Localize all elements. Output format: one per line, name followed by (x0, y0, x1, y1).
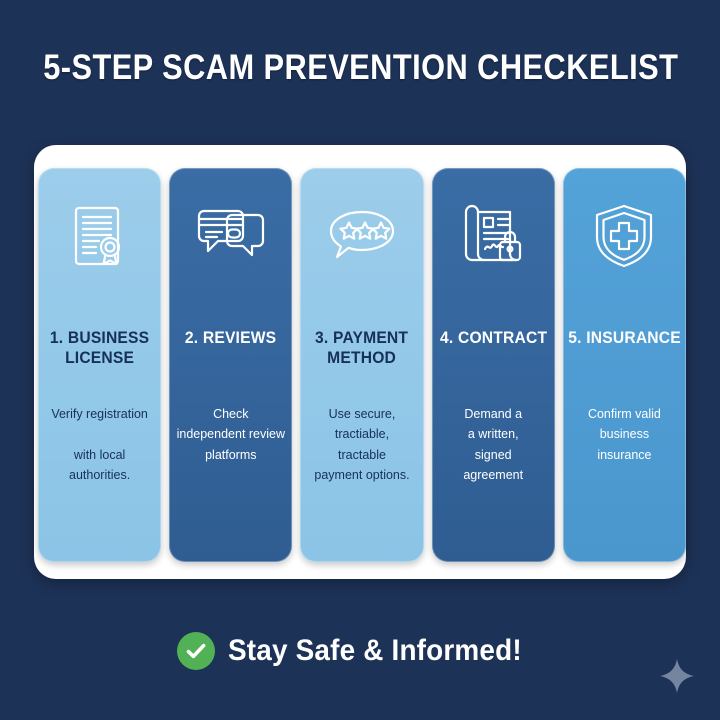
step-card-insurance[interactable]: 5. INSURANCE Confirm valid business insu… (563, 168, 686, 562)
step-card-contract[interactable]: 4. CONTRACT Demand a a written, signed a… (432, 168, 555, 562)
chat-card-icon (193, 198, 269, 274)
step-card-business-license[interactable]: 1. BUSINESS LICENSE Verify registration … (38, 168, 161, 562)
footer-label: Stay Safe & Informed! (228, 634, 522, 668)
step-title: 2. REVIEWS (169, 328, 293, 348)
steps-panel: 1. BUSINESS LICENSE Verify registration … (34, 145, 686, 579)
certificate-icon (62, 198, 138, 274)
contract-lock-icon (455, 198, 531, 274)
step-title: 3. PAYMENT METHOD (300, 328, 424, 368)
step-card-reviews[interactable]: 2. REVIEWS Check independent review plat… (169, 168, 292, 562)
star-rating-bubble-icon (324, 198, 400, 274)
step-card-payment-method[interactable]: 3. PAYMENT METHOD Use secure, tractiable… (300, 168, 423, 562)
step-title: 1. BUSINESS LICENSE (37, 328, 161, 368)
check-icon (177, 632, 215, 670)
step-body: Verify registration with local authoriti… (26, 404, 173, 485)
step-title: 5. INSURANCE (562, 328, 686, 348)
step-body: Demand a a written, signed agreement (420, 404, 567, 485)
footer: Stay Safe & Informed! (0, 632, 720, 670)
page-title: 5-STEP SCAM PREVENTION CHECKELIST (43, 48, 677, 88)
steps-row: 1. BUSINESS LICENSE Verify registration … (38, 168, 686, 562)
step-body: Confirm valid business insurance (551, 404, 698, 465)
step-body: Use secure, tractiable, tractable paymen… (288, 404, 435, 485)
step-body: Check independent review platforms (157, 404, 304, 465)
step-title: 4. CONTRACT (431, 328, 555, 348)
sparkle-icon (658, 657, 696, 695)
shield-cross-icon (586, 198, 662, 274)
